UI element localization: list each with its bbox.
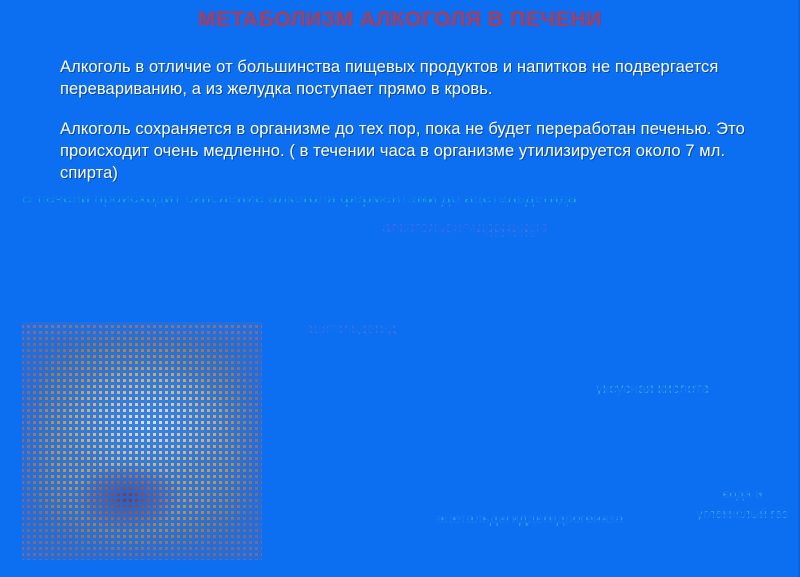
presentation-slide: МЕТАБОЛИЗМ АЛКОГОЛЯ В ПЕЧЕНИ Алкоголь в … <box>0 0 800 577</box>
ghost-text-acetic-acid: уксусная кислота <box>520 378 785 398</box>
ghost-text-water-co2: вода и углекислый газ <box>690 484 795 524</box>
body-paragraph-2: Алкоголь сохраняется в организме до тех … <box>60 118 772 184</box>
faded-content-region: В печени происходит окисление алкоголя ф… <box>0 196 800 577</box>
ghost-text-acetaldehyde-dehydrogenase: ацетальдегиддегидрогеназа <box>405 508 655 528</box>
ghost-text-lead: В печени происходит окисление алкоголя ф… <box>22 196 792 209</box>
slide-title: МЕТАБОЛИЗМ АЛКОГОЛЯ В ПЕЧЕНИ <box>0 8 800 32</box>
ghost-text-acetaldehyde: ацетальдегид <box>236 318 466 338</box>
ghost-text-liver-label: печень <box>490 222 790 242</box>
liver-image <box>22 322 262 560</box>
body-paragraph-1: Алкоголь в отличие от большинства пищевы… <box>60 56 772 100</box>
